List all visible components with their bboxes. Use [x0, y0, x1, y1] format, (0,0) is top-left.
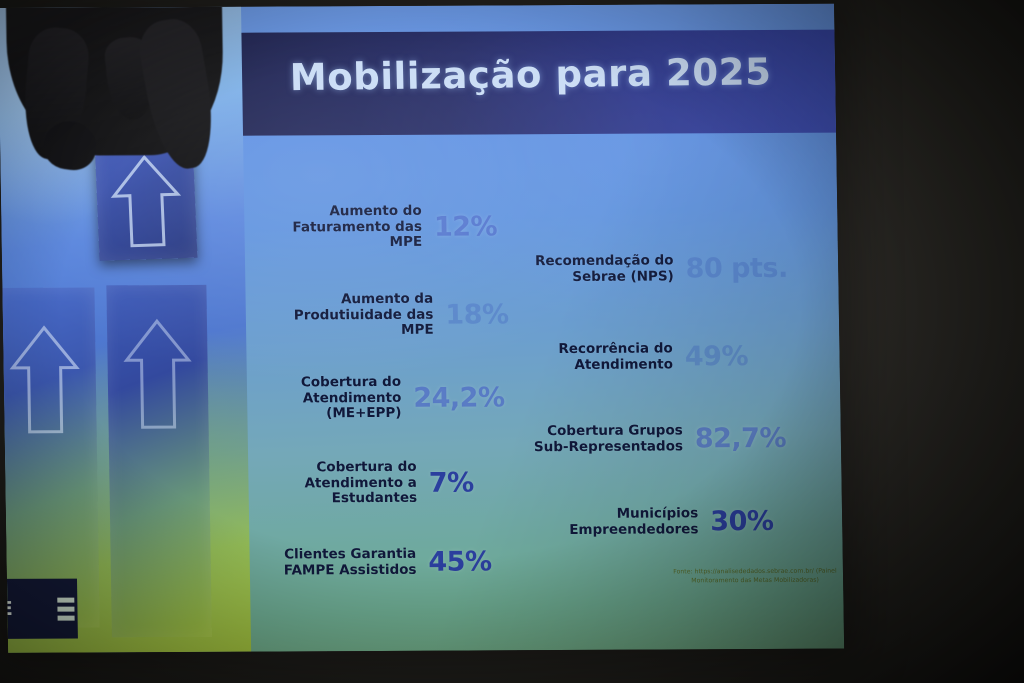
metric-clientes-fampe: Clientes GarantiaFAMPE Assistidos 45% — [284, 546, 492, 578]
sebrae-logo-text: RAE — [0, 598, 13, 620]
metric-value: 45% — [428, 547, 492, 578]
metric-value: 49% — [685, 341, 749, 372]
metric-recorrencia-atendimento: Recorrência doAtendimento 49% — [558, 341, 748, 373]
metric-recomendacao-nps: Recomendação doSebrae (NPS) 80 pts. — [535, 253, 788, 286]
metric-cobertura-atendimento: Cobertura doAtendimento(ME+EPP) 24,2% — [301, 374, 505, 422]
up-arrow-icon — [121, 315, 195, 435]
slide-photo-panel: RAE — [0, 7, 251, 653]
metric-label: Cobertura doAtendimento(ME+EPP) — [301, 375, 402, 422]
metric-label: Cobertura GruposSub-Representados — [534, 423, 683, 455]
metric-aumento-faturamento: Aumento doFaturamento dasMPE 12% — [292, 203, 497, 251]
metric-label: Aumento doFaturamento dasMPE — [292, 204, 422, 252]
source-footnote: Fonte: https://analisededados.sebrae.com… — [665, 567, 844, 587]
metric-cobertura-estudantes: Cobertura doAtendimento aEstudantes 7% — [304, 459, 474, 507]
metric-label: Clientes GarantiaFAMPE Assistidos — [284, 547, 417, 579]
wooden-block-middle — [106, 285, 212, 637]
sebrae-bars-icon — [57, 597, 74, 620]
metric-aumento-produtividade: Aumento daProdutiuidade dasMPE 18% — [294, 291, 509, 339]
up-arrow-icon — [106, 150, 186, 252]
metric-municipios-empreendedores: MunicípiosEmpreendedores 30% — [569, 506, 774, 538]
metric-label: Aumento daProdutiuidade dasMPE — [294, 292, 434, 340]
projected-slide: RAE Mobilização para 2025 Aumento doFatu… — [0, 4, 844, 653]
metric-value: 80 pts. — [685, 253, 788, 285]
metric-value: 7% — [429, 467, 474, 498]
page-title: Mobilização para 2025 — [242, 50, 820, 100]
metrics-area: Aumento doFaturamento dasMPE 12% Aumento… — [243, 133, 844, 652]
metric-label: Recorrência doAtendimento — [558, 341, 673, 373]
metric-label: Cobertura doAtendimento aEstudantes — [304, 460, 417, 508]
metric-value: 12% — [434, 211, 498, 242]
wooden-block-left — [0, 287, 100, 627]
projected-slide-wrapper: RAE Mobilização para 2025 Aumento doFatu… — [0, 4, 844, 653]
hand-silhouette — [5, 7, 224, 156]
presentation-room: RAE Mobilização para 2025 Aumento doFatu… — [0, 0, 1024, 683]
metric-label: Recomendação doSebrae (NPS) — [535, 253, 674, 285]
metric-label: MunicípiosEmpreendedores — [569, 506, 699, 538]
metric-value: 82,7% — [695, 423, 787, 454]
metric-cobertura-grupos: Cobertura GruposSub-Representados 82,7% — [534, 423, 787, 456]
metric-value: 18% — [445, 299, 509, 330]
metric-value: 30% — [710, 506, 774, 537]
slide-title-banner: Mobilização para 2025 — [241, 30, 836, 136]
up-arrow-icon — [7, 322, 83, 438]
metric-value: 24,2% — [413, 382, 505, 413]
sebrae-logo: RAE — [0, 579, 78, 640]
